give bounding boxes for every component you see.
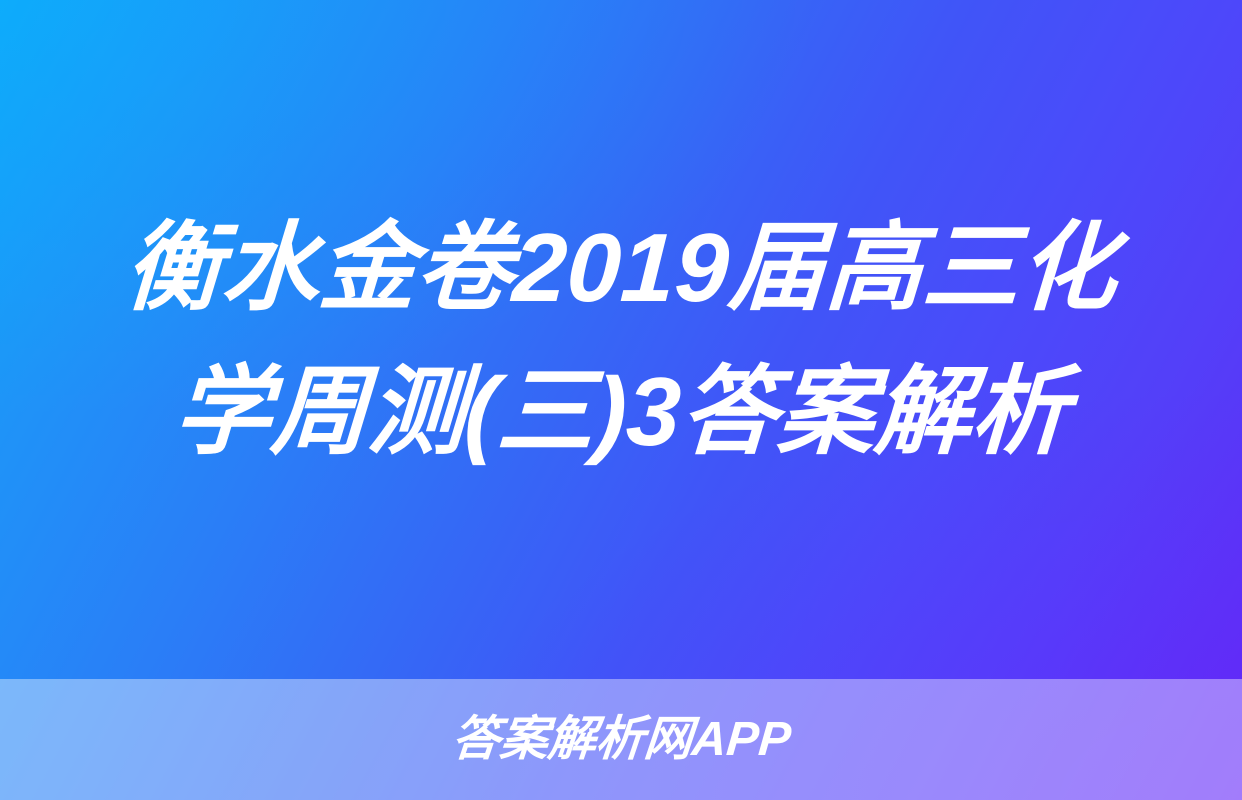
title-block: 衡水金卷2019届高三化 学周测(三)3答案解析	[0, 0, 1242, 679]
app-watermark-label: 答案解析网APP	[449, 712, 793, 768]
page-title-line-2: 学周测(三)3答案解析	[170, 340, 1072, 484]
cover-banner: 衡水金卷2019届高三化 学周测(三)3答案解析 答案解析网APP	[0, 0, 1242, 800]
footer-watermark-bar: 答案解析网APP	[0, 679, 1242, 800]
page-title-line-1: 衡水金卷2019届高三化	[121, 196, 1120, 340]
